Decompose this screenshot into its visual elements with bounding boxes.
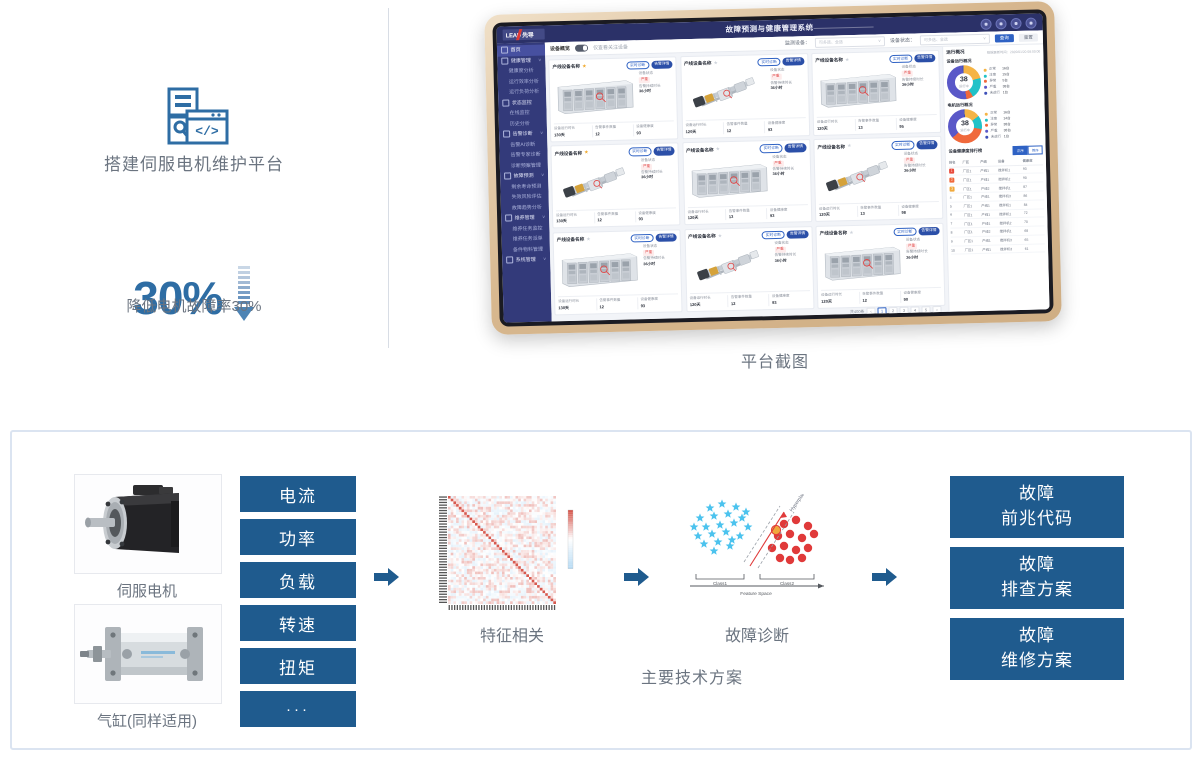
rank-sort-buttons[interactable]: 正序 倒序 [1013, 145, 1043, 154]
donut-legend: 正常 16台 注意 15台 异常 5台 严重 38台 未运行 1台 [984, 66, 1042, 97]
sidebar-item-label: 备件物料管理 [513, 246, 543, 253]
device-card[interactable]: 产线设备名称 ★ 实时诊断 告警详情 设备状态 严重 告警持续时长 36小时 设… [815, 223, 945, 309]
sidebar-item-label: 维养管理 [515, 215, 535, 221]
rank-cell: 8 [951, 228, 965, 237]
device-card[interactable]: 产线设备名称 ★ 实时诊断 告警详情 设备状态 严重 告警持续时长 36小时 设… [550, 143, 680, 229]
duration-value: 36小时 [773, 172, 807, 179]
card-metrics: 设备运行时长130天 告警事件数量12 设备健康度93 [554, 121, 674, 139]
metric-alarms: 告警事件数量12 [859, 291, 900, 304]
filter-label-status: 设备状态： [890, 36, 915, 44]
device-card-grid: 产线设备名称 ★ 实时诊断 告警详情 设备状态 严重 告警持续时长 36小时 设… [548, 50, 945, 315]
metric-runtime: 设备运行时长120天 [687, 209, 725, 222]
metric-runtime: 设备运行时长120天 [690, 295, 728, 308]
filter-value-device: 可多选、全选 [819, 39, 843, 46]
output-line2: 前兆代码 [1001, 507, 1073, 532]
donut-charts: 设备运行概况 38 运行中 正常 16台 注意 15台 异常 5台 严重 38台 [946, 53, 1042, 143]
status-badge: 严重 [770, 74, 781, 80]
favorite-star-icon[interactable]: ★ [582, 64, 587, 69]
legend-color-dot [984, 92, 987, 95]
card-status-meta: 设备状态 严重 告警持续时长 36小时 [772, 154, 807, 203]
card-metrics: 设备运行时长120天 告警事件数量13 设备健康度98 [819, 201, 939, 219]
metric-health: 设备健康度93 [764, 121, 805, 134]
rank-cell: 4 [950, 193, 964, 202]
slide-root: </> 搭建伺服电机维护平台 30% 降低电机故障率30% [0, 0, 1198, 764]
rank-header: 设备健康度排行榜 正序 倒序 [949, 145, 1043, 156]
left-highlight-panel: </> 搭建伺服电机维护平台 30% 降低电机故障率30% [0, 30, 388, 340]
platform-label: 搭建伺服电机维护平台 [0, 150, 388, 175]
air-cylinder-caption: 气缸(同样适用) [74, 710, 220, 731]
device-card[interactable]: 产线设备名称 ★ 实时诊断 告警详情 设备状态 严重 告警持续时长 36小时 设… [553, 229, 683, 315]
output-box-list: 故障 前兆代码故障 排查方案故障 维修方案 [950, 476, 1124, 689]
sidebar-item-label: 维养任务监控 [512, 225, 542, 232]
home-icon[interactable] [995, 18, 1006, 29]
table-row[interactable]: 10厂区1产线1搅拌机361 [951, 244, 1045, 255]
duration-value: 36小时 [770, 85, 804, 92]
duration-value: 36小时 [906, 255, 940, 262]
sidebar-item-label: 诊断预案管理 [511, 162, 541, 169]
rank-badge: 1 [949, 169, 954, 174]
metric-health: 设备健康度93 [768, 293, 809, 306]
metric-alarms: 告警事件数量12 [723, 122, 764, 135]
sidebar-item-label: 系统管理 [516, 257, 536, 263]
tech-solution-caption: 主要技术方案 [557, 664, 827, 688]
output-line1: 故障 [1019, 553, 1055, 578]
heatmap-caption: 特征相关 [432, 622, 592, 646]
signal-tag-4: 扭矩 [240, 648, 356, 684]
duration-value: 36小时 [641, 175, 675, 182]
rank-cell: 厂区1 [963, 184, 981, 193]
card-status-meta: 设备状态 严重 告警持续时长 36小时 [902, 64, 937, 113]
metric-alarms: 告警事件数量12 [592, 125, 633, 138]
legend-item: 未运行 1台 [985, 133, 1042, 140]
device-image [555, 158, 639, 208]
signal-tag-3: 转速 [240, 605, 356, 641]
filter-select-device[interactable]: 可多选、全选 ˅ [815, 36, 885, 48]
sidebar-item-label: 告警诊断 [513, 131, 533, 137]
sidebar-item-label: 维养任务派单 [513, 236, 543, 243]
favorite-star-icon[interactable]: ★ [713, 61, 718, 66]
favorite-star-icon[interactable]: ★ [584, 151, 589, 156]
donut-center-value: 38 [960, 76, 968, 83]
sidebar-item-label: 故障预测 [514, 173, 534, 179]
svg-text:Class2: Class2 [780, 581, 794, 586]
metric-health: 设备健康度93 [633, 124, 674, 137]
device-card[interactable]: 产线设备名称 ★ 实时诊断 告警详情 设备状态 严重 告警持续时长 36小时 设… [682, 140, 812, 226]
metric-runtime: 设备运行时长120天 [685, 123, 723, 136]
output-box-2: 故障 维修方案 [950, 618, 1124, 680]
metric-health: 设备健康度95 [896, 117, 937, 130]
status-badge: 严重 [904, 157, 915, 163]
metric-health: 设备健康度93 [766, 207, 807, 220]
bell-icon[interactable] [1010, 18, 1021, 29]
signal-tag-0: 电流 [240, 476, 356, 512]
device-card[interactable]: 产线设备名称 ★ 实时诊断 告警详情 设备状态 严重 告警持续时长 36小时 设… [813, 136, 943, 222]
signal-tag-5: ··· [240, 691, 356, 727]
donut-legend: 正常 16台 注意 14台 异常 38台 严重 38台 未运行 1台 [985, 110, 1043, 141]
rank-cell: 搅拌机3 [1000, 244, 1025, 253]
servo-motor-photo [74, 474, 222, 574]
legend-color-dot [985, 112, 988, 115]
status-badge: 严重 [772, 160, 783, 166]
output-line2: 维修方案 [1001, 649, 1073, 674]
metric-runtime: 设备运行时长130天 [558, 299, 596, 312]
device-image [553, 72, 637, 122]
donut-section-1: 电机运行概况 38 运行中 正常 16台 注意 14台 异常 38台 严重 38… [947, 100, 1042, 143]
alarm-icon [503, 131, 510, 138]
status-badge: 严重 [639, 77, 650, 83]
wrench-icon [505, 215, 512, 222]
chevron-down-icon: ˅ [541, 171, 544, 182]
chevron-down-icon: ˅ [538, 55, 541, 66]
legend-color-dot [985, 136, 988, 139]
servo-motor-caption: 伺服电机 [74, 580, 220, 601]
gear-icon [506, 257, 513, 264]
chevron-down-icon: ˅ [542, 213, 545, 224]
donut-chart: 38 运行中 [947, 65, 982, 100]
metric-alarms: 告警事件数量12 [596, 298, 637, 311]
arrow-right-icon [872, 566, 898, 588]
rank-cell: 3 [949, 184, 963, 193]
home-icon [501, 47, 508, 54]
card-status-meta: 设备状态 严重 告警持续时长 36小时 [639, 71, 674, 120]
gear-icon[interactable] [1025, 18, 1036, 29]
favorite-star-icon[interactable]: ★ [716, 147, 721, 152]
output-box-0: 故障 前兆代码 [950, 476, 1124, 538]
svg-text:Class1: Class1 [713, 581, 727, 586]
sort-asc-button[interactable]: 正序 [1013, 146, 1028, 155]
svg-text:</>: </> [195, 124, 219, 139]
filter-select-status[interactable]: 可多选、全选 ˅ [920, 33, 990, 45]
platform-build-icon: </> [155, 87, 233, 147]
device-image [688, 241, 772, 291]
card-status-meta: 设备状态 严重 告警持续时长 36小时 [643, 243, 678, 292]
card-metrics: 设备运行时长130天 告警事件数量12 设备健康度93 [558, 294, 678, 312]
overview-panel: 运行概况 数据更新时间：2020/01/20 08:00:00 设备运行概况 3… [942, 44, 1049, 311]
chevron-down-icon: ˅ [878, 38, 881, 43]
donut-section-0: 设备运行概况 38 运行中 正常 16台 注意 15台 异常 5台 严重 38台 [946, 56, 1041, 99]
metric-runtime: 设备运行时长120天 [819, 206, 857, 219]
card-title: 产线设备名称 [820, 230, 848, 237]
metric-alarms: 告警事件数量12 [594, 211, 635, 224]
rank-table-body: 1厂区1产线1搅拌机1932厂区1产线1搅拌机2903厂区1产线2搅拌机1874… [949, 164, 1045, 254]
sidebar-item-label: 历史分析 [510, 120, 530, 126]
air-cylinder-photo [74, 604, 222, 704]
tablet-screen: LEAD 先导 故障预测与健康管理系统 首页健康管理˅健康度分析运行效率分析运行… [496, 13, 1049, 322]
metric-health: 设备健康度93 [637, 297, 678, 310]
metric-alarms: 告警事件数量13 [857, 205, 898, 218]
device-image [818, 152, 902, 202]
output-line1: 故障 [1019, 624, 1055, 649]
filter-label-device: 监测设备： [785, 39, 810, 47]
app-sidebar[interactable]: 首页健康管理˅健康度分析运行效率分析运行负荷分析状态监控在线监控历史分析告警诊断… [497, 43, 552, 323]
sidebar-item-label: 状态监控 [512, 99, 532, 105]
rank-cell: 2 [949, 175, 963, 184]
card-title: 产线设备名称 [815, 57, 843, 64]
legend-name: 未运行 [990, 90, 1003, 96]
metric-runtime: 设备运行时长120天 [817, 119, 855, 132]
toggle-hint: 仅查看关注设备 [593, 44, 628, 52]
window-controls[interactable] [980, 18, 1036, 30]
fault-diagnosis-scatter: HyperplaneClass1Class2Feature Space [684, 494, 830, 606]
rank-title: 设备健康度排行榜 [949, 148, 983, 155]
metric-health: 设备健康度93 [635, 210, 676, 223]
rank-cell: 产线1 [981, 192, 999, 201]
sidebar-item-label: 运行效率分析 [509, 78, 539, 85]
search-button[interactable]: 查询 [995, 34, 1014, 42]
metric-health: 设备健康度98 [898, 204, 939, 217]
sidebar-item-20[interactable]: 系统管理˅ [502, 254, 550, 266]
legend-color-dot [985, 124, 988, 127]
rank-badge: 2 [949, 177, 954, 182]
rank-cell: 厂区1 [964, 236, 982, 245]
tablet-caption: 平台截图 [480, 348, 1070, 372]
rank-cell: 5 [950, 202, 964, 211]
duration-value: 36小时 [904, 168, 938, 175]
arrow-right-icon [374, 566, 400, 588]
rank-cell: 产线1 [982, 245, 1000, 254]
card-metrics: 设备运行时长120天 告警事件数量12 设备健康度93 [690, 290, 810, 308]
chart-icon [504, 173, 511, 180]
feature-correlation-heatmap [432, 490, 592, 610]
favorite-star-icon[interactable]: ★ [847, 144, 852, 149]
donut-center-label: 运行中 [960, 127, 970, 132]
metric-runtime: 设备运行时长130天 [554, 126, 592, 139]
signal-tag-1: 功率 [240, 519, 356, 555]
card-metrics: 设备运行时长120天 告警事件数量12 设备健康度90 [821, 287, 941, 305]
card-title: 产线设备名称 [688, 233, 716, 240]
rank-cell: 产线1 [982, 236, 1000, 245]
rank-cell: 厂区1 [964, 227, 982, 236]
donut-center-value: 38 [961, 120, 969, 127]
rank-cell: 6 [950, 210, 964, 219]
output-line1: 故障 [1019, 482, 1055, 507]
output-box-1: 故障 排查方案 [950, 547, 1124, 609]
sidebar-item-label: 在线监控 [510, 110, 530, 116]
donut-center-label: 运行中 [959, 83, 969, 88]
arrow-right-icon [624, 566, 650, 588]
sidebar-item-label: 首页 [510, 47, 520, 53]
metric-alarms: 告警事件数量13 [855, 118, 896, 131]
metric-alarms: 告警事件数量12 [727, 294, 768, 307]
sidebar-item-label: 运行负荷分析 [509, 89, 539, 96]
legend-color-dot [984, 80, 987, 83]
card-status-meta: 设备状态 严重 告警持续时长 36小时 [774, 240, 809, 289]
device-card[interactable]: 产线设备名称 ★ 实时诊断 告警详情 设备状态 严重 告警持续时长 36小时 设… [684, 226, 814, 312]
user-icon[interactable] [980, 19, 991, 30]
sort-desc-button[interactable]: 倒序 [1028, 145, 1043, 154]
monitor-icon [502, 99, 509, 106]
device-image [686, 155, 770, 205]
sidebar-item-label: 健康度分析 [508, 68, 533, 75]
output-line2: 排查方案 [1001, 578, 1073, 603]
rank-cell: 1 [949, 166, 963, 175]
device-image [684, 68, 768, 118]
card-metrics: 设备运行时长120天 告警事件数量13 设备健康度93 [687, 204, 807, 222]
favorite-star-icon[interactable]: ★ [845, 58, 850, 63]
vertical-divider [388, 8, 389, 348]
device-card[interactable]: 产线设备名称 ★ 实时诊断 告警详情 设备状态 严重 告警持续时长 36小时 设… [680, 53, 810, 139]
chevron-down-icon: ˅ [983, 36, 986, 41]
svg-text:Feature Space: Feature Space [740, 591, 772, 597]
card-title: 产线设备名称 [552, 64, 580, 71]
sidebar-item-label: 告警AI诊断 [510, 141, 535, 148]
rank-cell: 10 [951, 245, 965, 254]
svm-caption: 故障诊断 [684, 622, 830, 646]
duration-value: 36小时 [775, 258, 809, 265]
device-image [820, 238, 904, 288]
legend-color-dot [985, 130, 988, 133]
signal-tag-2: 负载 [240, 562, 356, 598]
card-metrics: 设备运行时长120天 告警事件数量13 设备健康度95 [817, 114, 937, 132]
card-status-meta: 设备状态 严重 告警持续时长 36小时 [906, 237, 941, 286]
card-status-meta: 设备状态 严重 告警持续时长 36小时 [904, 151, 939, 200]
rank-badge: 3 [949, 186, 954, 191]
favorite-star-icon[interactable]: ★ [849, 231, 854, 236]
rank-cell: 7 [950, 219, 964, 228]
sidebar-item-label: 告警专家诊断 [511, 152, 541, 159]
metric-runtime: 设备运行时长120天 [821, 292, 859, 305]
overview-label: 设备概览 [550, 45, 570, 52]
heart-icon [501, 57, 508, 64]
rank-col-header: 排名 [949, 158, 963, 167]
card-title: 产线设备名称 [686, 147, 714, 154]
rank-cell: 61 [1025, 244, 1046, 253]
chevron-down-icon: ˅ [543, 255, 546, 266]
legend-color-dot [984, 86, 987, 89]
favorite-star-icon[interactable]: ★ [586, 237, 591, 242]
metric-alarms: 告警事件数量13 [725, 208, 766, 221]
card-metrics: 设备运行时长120天 告警事件数量12 设备健康度93 [685, 118, 805, 136]
favorite-star-icon[interactable]: ★ [718, 234, 723, 239]
rank-cell: 产线2 [981, 183, 999, 192]
metric-runtime: 设备运行时长130天 [556, 212, 594, 225]
card-title: 产线设备名称 [555, 150, 583, 157]
technical-solution-section: 伺服电机 [10, 430, 1192, 750]
card-title: 产线设备名称 [557, 237, 585, 244]
legend-value: 1台 [1003, 90, 1008, 96]
sidebar-item-label: 失效风险评估 [512, 194, 542, 201]
rank-cell: 厂区1 [963, 175, 981, 184]
tablet-mockup: LEAD 先导 故障预测与健康管理系统 首页健康管理˅健康度分析运行效率分析运行… [480, 0, 1070, 345]
legend-item: 未运行 1台 [984, 89, 1041, 96]
card-metrics: 设备运行时长130天 告警事件数量12 设备健康度93 [556, 207, 676, 225]
svg-text:Hyperplane: Hyperplane [789, 494, 809, 513]
sidebar-item-label: 故障趋势分析 [512, 204, 542, 211]
card-title: 产线设备名称 [684, 61, 712, 68]
device-image [557, 244, 641, 294]
metric-health: 设备健康度90 [900, 290, 941, 303]
legend-value: 1台 [1004, 134, 1009, 140]
legend-color-dot [984, 68, 987, 71]
card-status-meta: 设备状态 严重 告警持续时长 36小时 [641, 157, 676, 206]
rank-cell: 厂区1 [964, 245, 982, 254]
status-badge: 严重 [902, 71, 913, 77]
legend-name: 未运行 [991, 134, 1004, 140]
card-status-meta: 设备状态 严重 告警持续时长 36小时 [770, 67, 805, 116]
sidebar-item-label: 剩余寿命预测 [511, 183, 541, 190]
legend-color-dot [985, 118, 988, 121]
rank-table: 排名厂区产线设备健康度 1厂区1产线1搅拌机1932厂区1产线1搅拌机2903厂… [949, 156, 1045, 255]
card-title: 产线设备名称 [817, 144, 845, 151]
signal-tag-list: 电流功率负载转速扭矩··· [240, 476, 356, 734]
favorites-toggle[interactable] [575, 45, 588, 52]
reset-button[interactable]: 重置 [1019, 33, 1038, 41]
chevron-down-icon: ˅ [540, 129, 543, 140]
device-image [816, 65, 900, 115]
status-badge: 严重 [641, 163, 652, 169]
legend-color-dot [984, 74, 987, 77]
duration-value: 36小时 [643, 261, 677, 268]
device-card[interactable]: 产线设备名称 ★ 实时诊断 告警详情 设备状态 严重 告警持续时长 36小时 设… [811, 50, 941, 136]
duration-value: 36小时 [639, 88, 673, 95]
donut-chart: 38 运行中 [948, 109, 983, 144]
filter-value-status: 可多选、全选 [924, 36, 948, 43]
duration-value: 36小时 [902, 82, 936, 89]
device-card[interactable]: 产线设备名称 ★ 实时诊断 告警详情 设备状态 严重 告警持续时长 36小时 设… [548, 56, 678, 142]
sidebar-item-label: 健康管理 [511, 57, 531, 63]
metric-caption: 降低电机故障率30% [0, 295, 388, 316]
rank-cell: 9 [951, 237, 965, 246]
